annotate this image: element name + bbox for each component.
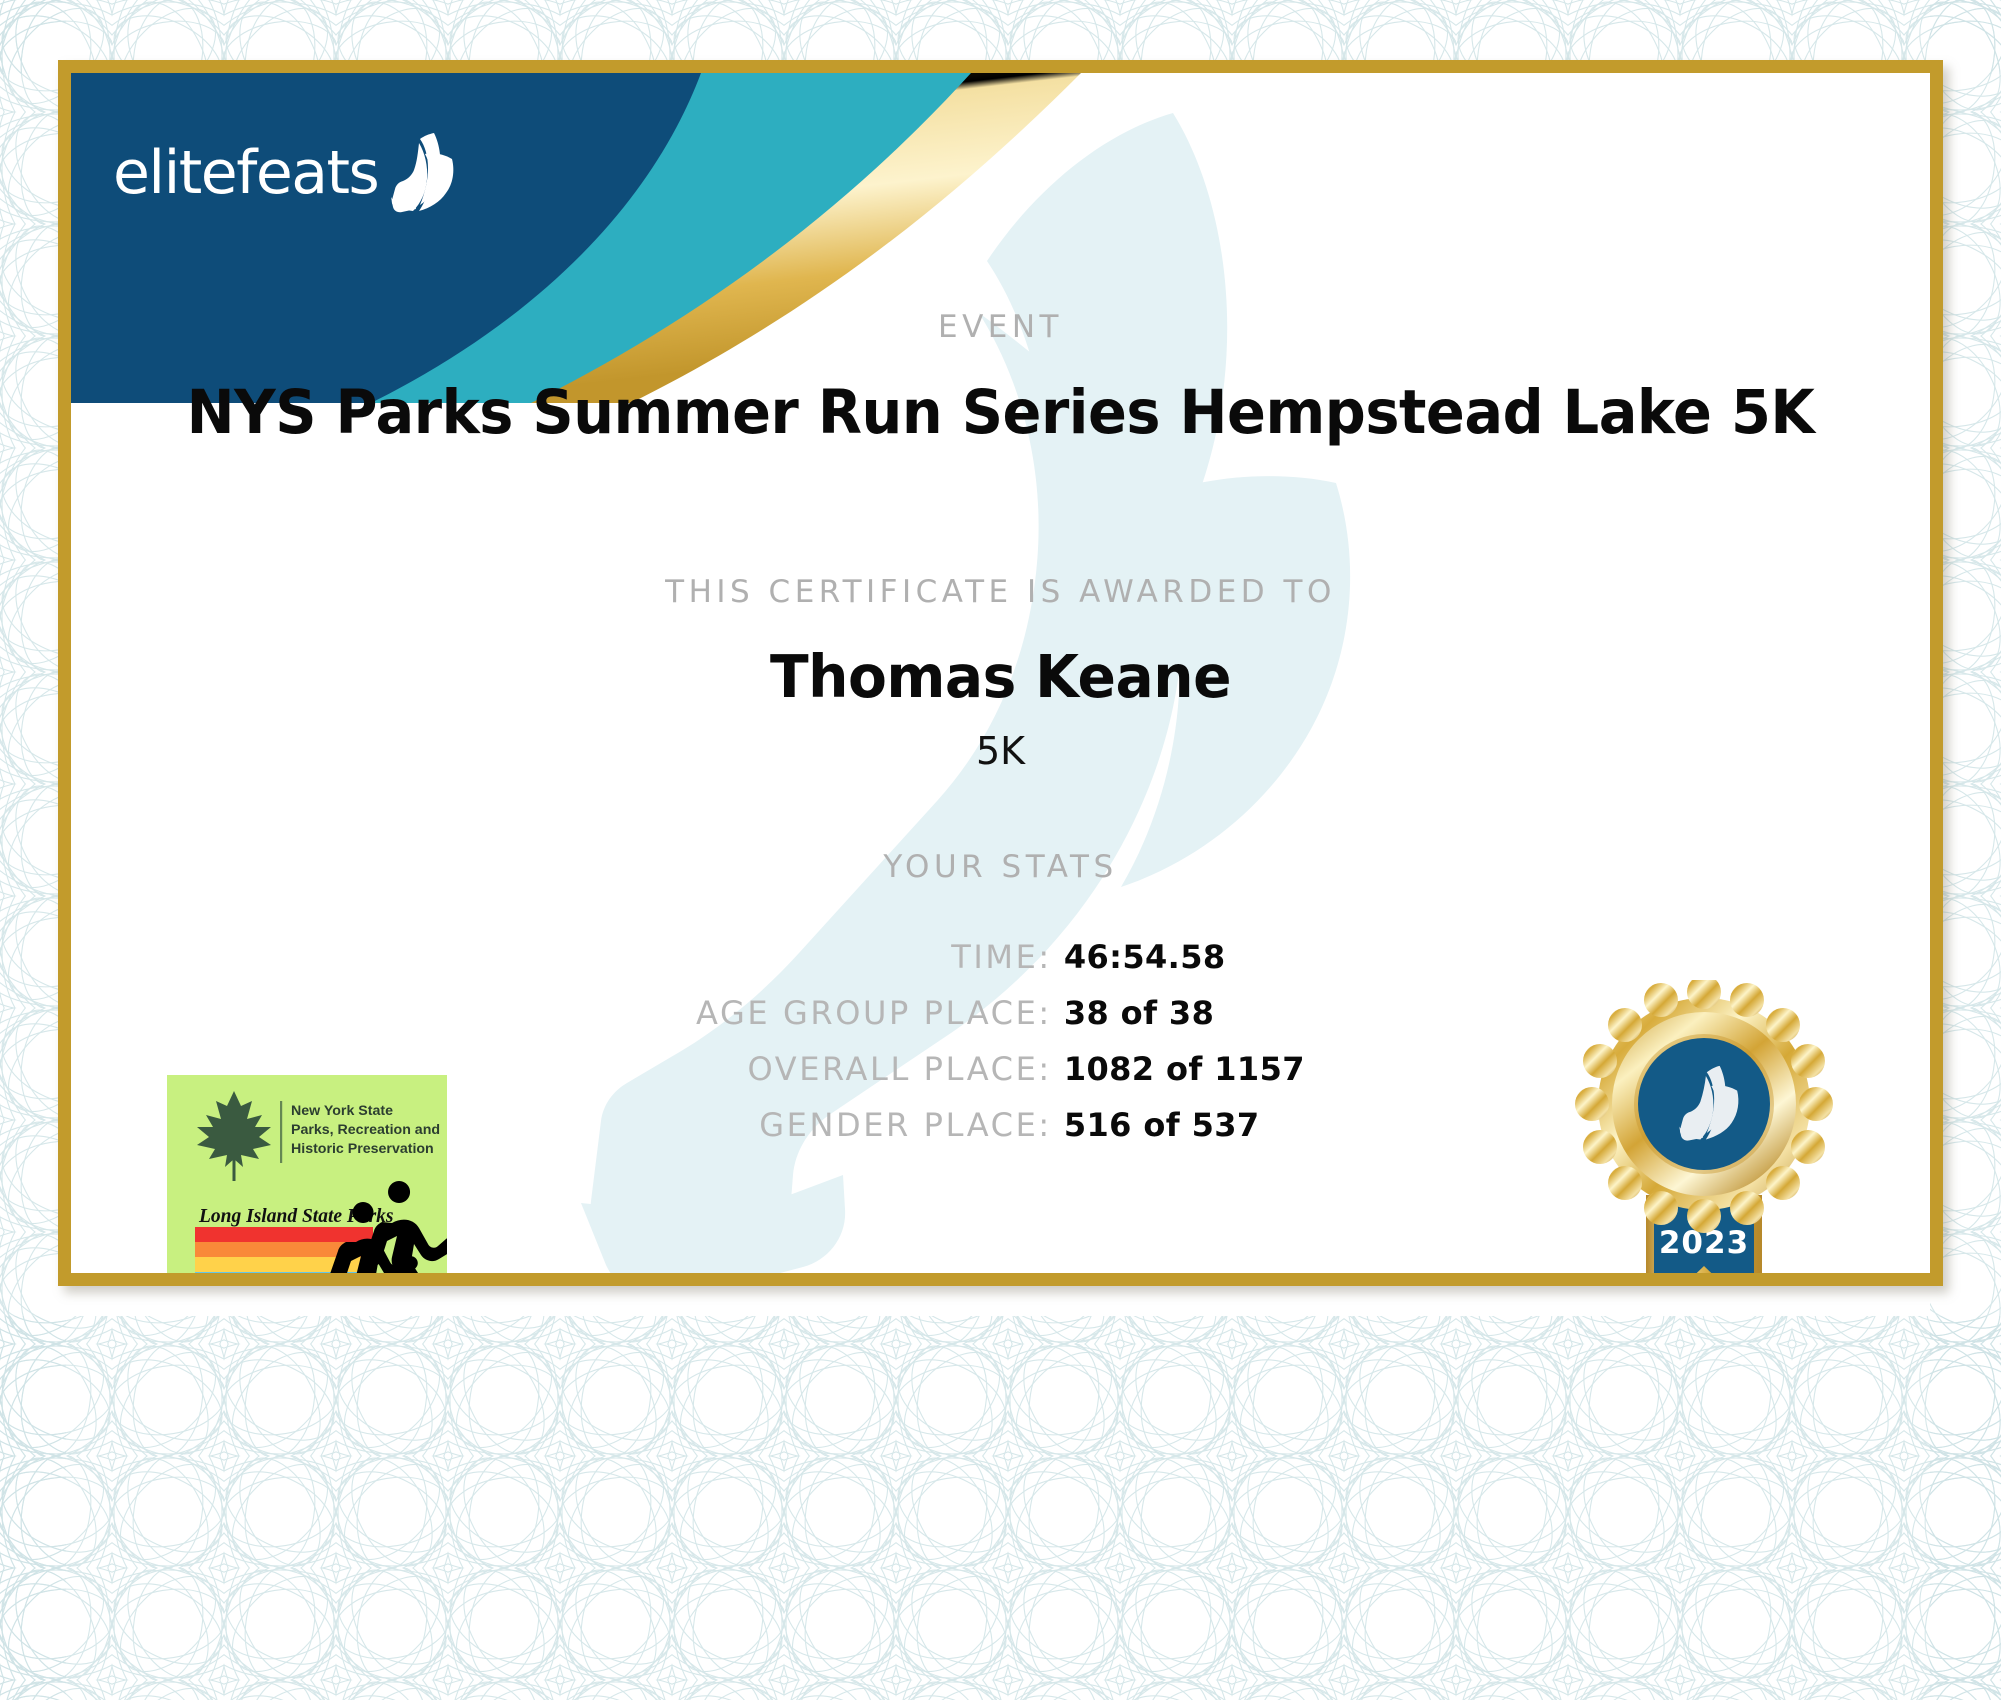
- table-row: TIME: 46:54.58: [696, 929, 1305, 985]
- stat-key: AGE GROUP PLACE:: [696, 985, 1064, 1041]
- svg-text:Parks, Recreation and: Parks, Recreation and: [291, 1122, 440, 1138]
- stat-key: OVERALL PLACE:: [696, 1041, 1064, 1097]
- stat-value: 38 of 38: [1064, 985, 1305, 1041]
- event-distance: 5K: [71, 729, 1930, 773]
- stat-value: 516 of 537: [1064, 1097, 1305, 1153]
- event-title: NYS Parks Summer Run Series Hempstead La…: [127, 377, 1874, 448]
- awarded-to-label: THIS CERTIFICATE IS AWARDED TO: [71, 574, 1930, 610]
- finisher-medal-badge: 2023: [1564, 980, 1844, 1286]
- stats-table: TIME: 46:54.58 AGE GROUP PLACE: 38 of 38…: [696, 929, 1305, 1153]
- stat-key: GENDER PLACE:: [696, 1097, 1064, 1153]
- stat-value: 46:54.58: [1064, 929, 1305, 985]
- table-row: OVERALL PLACE: 1082 of 1157: [696, 1041, 1305, 1097]
- stat-key: TIME:: [696, 929, 1064, 985]
- brand-wordmark: elitefeats: [113, 143, 378, 203]
- table-row: GENDER PLACE: 516 of 537: [696, 1097, 1305, 1153]
- table-row: AGE GROUP PLACE: 38 of 38: [696, 985, 1305, 1041]
- event-label: EVENT: [71, 309, 1930, 345]
- medal-icon: 2023: [1564, 980, 1844, 1286]
- svg-text:New York State: New York State: [291, 1103, 393, 1119]
- winged-foot-icon: [382, 131, 458, 213]
- recipient-name: Thomas Keane: [108, 642, 1893, 711]
- elitefeats-logo: elitefeats: [113, 131, 458, 203]
- certificate-card: elitefeats EVENT NYS Parks Summer Run Se…: [58, 60, 1943, 1286]
- sponsor-logo: New York State Parks, Recreation and His…: [167, 1075, 447, 1286]
- stat-value: 1082 of 1157: [1064, 1041, 1305, 1097]
- svg-text:Historic Preservation: Historic Preservation: [291, 1141, 434, 1157]
- your-stats-label: YOUR STATS: [71, 849, 1930, 885]
